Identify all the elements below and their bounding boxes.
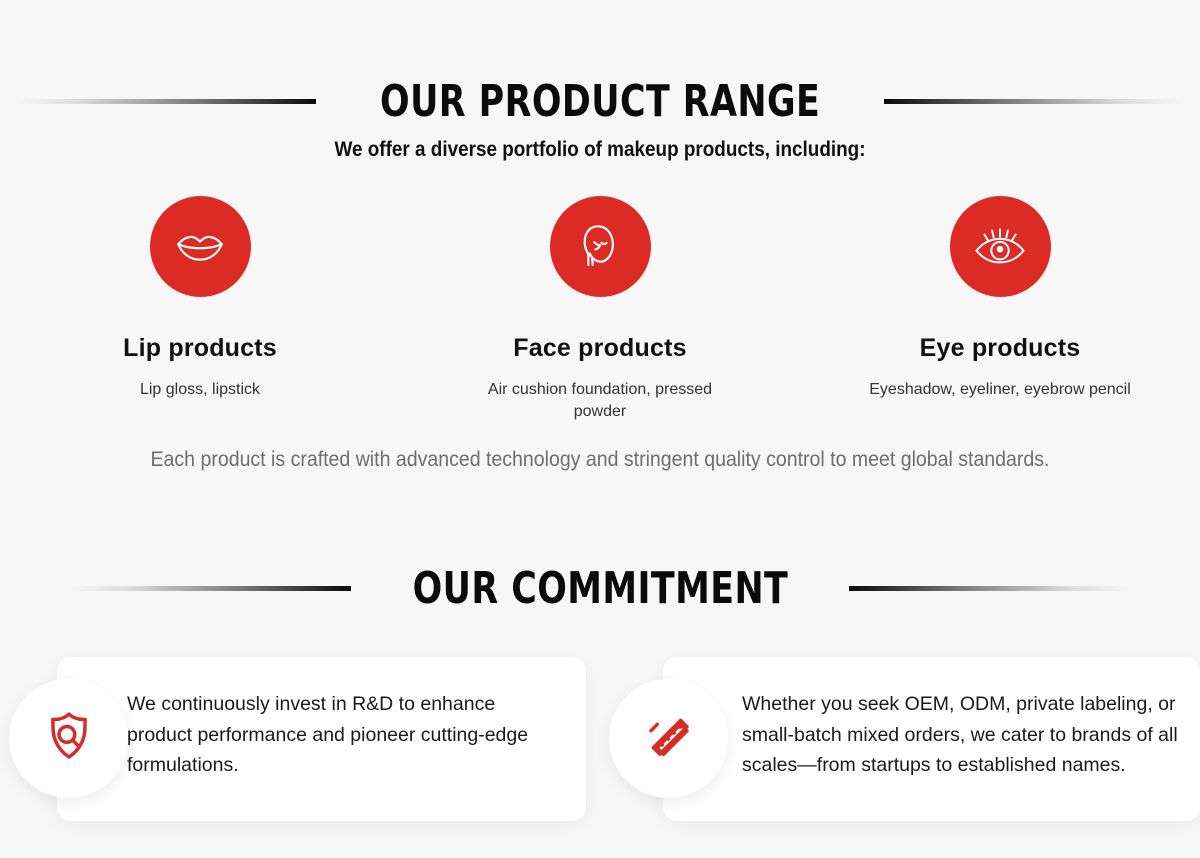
product-item-face: Face products Air cushion foundation, pr…: [400, 196, 800, 422]
shield-search-icon: [41, 708, 97, 769]
product-name: Face products: [513, 334, 686, 363]
product-range-heading: OUR PRODUCT RANGE: [0, 76, 1200, 127]
product-description: Lip gloss, lipstick: [140, 379, 260, 401]
face-icon: [571, 218, 629, 276]
page-title: OUR PRODUCT RANGE: [380, 76, 820, 127]
commitment-heading: OUR COMMITMENT: [0, 563, 1200, 614]
divider-line-right: [884, 99, 1184, 104]
divider-line-left: [71, 586, 351, 591]
pencil-ruler-icon-badge: [609, 679, 728, 798]
eye-icon-badge: [950, 196, 1051, 297]
divider-line-left: [16, 99, 316, 104]
product-item-lip: Lip products Lip gloss, lipstick: [0, 196, 400, 422]
divider-line-right: [849, 586, 1129, 591]
product-list: Lip products Lip gloss, lipstick Face pr: [0, 196, 1200, 422]
product-name: Eye products: [920, 334, 1081, 363]
shield-search-icon-badge: [9, 679, 128, 798]
commitment-title: OUR COMMITMENT: [412, 563, 788, 614]
eye-icon: [971, 218, 1029, 276]
product-range-tagline: Each product is crafted with advanced te…: [42, 448, 1158, 472]
commitment-card-text: We continuously invest in R&D to enhance…: [127, 689, 557, 781]
product-range-page: OUR PRODUCT RANGE We offer a diverse por…: [0, 0, 1200, 858]
product-description: Eyeshadow, eyeliner, eyebrow pencil: [869, 379, 1131, 401]
commitment-card-text: Whether you seek OEM, ODM, private label…: [742, 689, 1180, 781]
face-icon-badge: [550, 196, 651, 297]
lips-icon: [171, 218, 229, 276]
product-description: Air cushion foundation, pressed powder: [460, 379, 740, 422]
page-subtitle: We offer a diverse portfolio of makeup p…: [60, 138, 1140, 162]
commitment-card-list: We continuously invest in R&D to enhance…: [0, 657, 1200, 821]
product-name: Lip products: [123, 334, 277, 363]
lips-icon-badge: [150, 196, 251, 297]
product-item-eye: Eye products Eyeshadow, eyeliner, eyebro…: [800, 196, 1200, 422]
pencil-ruler-icon: [642, 709, 696, 768]
